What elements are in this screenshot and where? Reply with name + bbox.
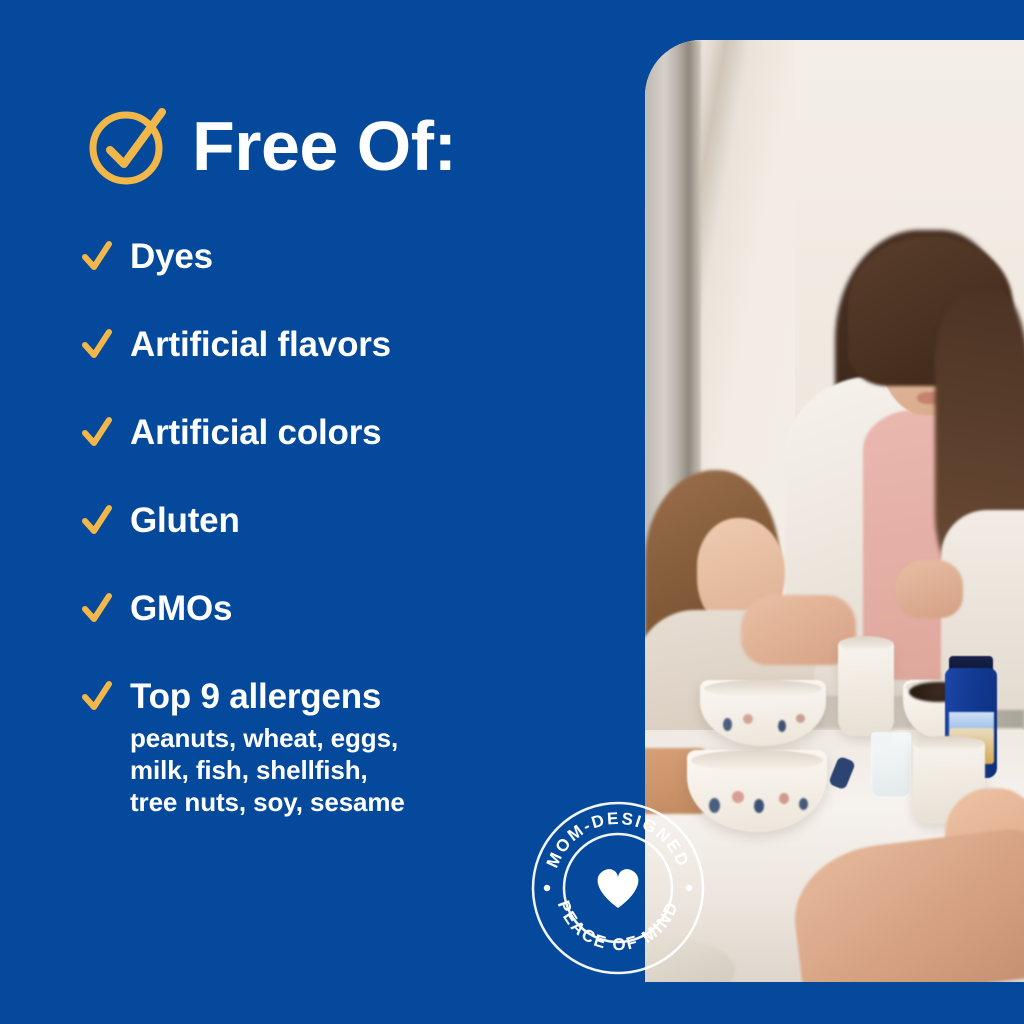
allergen-line-1: peanuts, wheat, eggs, <box>130 722 405 754</box>
check-icon <box>82 680 112 714</box>
cup-rim <box>914 736 983 752</box>
list-item: Artificial flavors <box>82 326 602 414</box>
bowl-rim <box>691 750 823 771</box>
product-benefits-graphic: Free Of: Dyes Artificial flavors <box>0 0 1024 1024</box>
page-title: Free Of: <box>86 104 456 188</box>
list-item-label: Artificial flavors <box>130 326 391 364</box>
mother-hand <box>895 560 963 618</box>
list-item-label: Gluten <box>130 502 240 540</box>
mom-designed-seal: MOM-DESIGNED PEACE OF MIND <box>530 800 706 976</box>
list-item: Dyes <box>82 238 602 326</box>
list-item: GMOs <box>82 590 602 678</box>
free-of-list: Dyes Artificial flavors Artificial color… <box>82 238 602 818</box>
list-item-label: Artificial colors <box>130 414 381 452</box>
water-glass <box>871 732 911 798</box>
check-icon <box>82 592 112 626</box>
bowl-speck <box>709 798 720 813</box>
bowl-speck <box>754 799 764 813</box>
list-item: Artificial colors <box>82 414 602 502</box>
list-item: Gluten <box>82 502 602 590</box>
allergens-block: Top 9 allergens peanuts, wheat, eggs, mi… <box>130 678 405 818</box>
heart-icon <box>598 869 639 908</box>
bowl-speck <box>778 720 786 732</box>
bowl-speck <box>796 714 805 723</box>
list-item-allergens: Top 9 allergens peanuts, wheat, eggs, mi… <box>82 678 602 818</box>
cup-rim <box>839 636 893 652</box>
ceramic-cup-back <box>838 640 894 736</box>
svg-text:MOM-DESIGNED: MOM-DESIGNED <box>543 809 694 871</box>
circle-check-icon <box>86 104 170 188</box>
bowl-speck <box>723 718 732 731</box>
benefits-content: Free Of: Dyes Artificial flavors <box>0 0 645 1024</box>
allergen-line-3: tree nuts, soy, sesame <box>130 786 405 818</box>
seal-dot-left <box>544 885 550 891</box>
check-icon <box>82 328 112 362</box>
allergen-line-2: milk, fish, shellfish, <box>130 754 405 786</box>
bowl-rim <box>704 680 822 697</box>
seal-dot-right <box>686 885 692 891</box>
bowl-speck <box>779 793 789 804</box>
bowl-speck <box>799 798 808 810</box>
list-item-label: GMOs <box>130 590 232 628</box>
check-icon <box>82 504 112 538</box>
check-icon <box>82 240 112 274</box>
page-title-text: Free Of: <box>192 111 456 181</box>
list-item-label: Dyes <box>130 238 213 276</box>
check-icon <box>82 416 112 450</box>
list-item-label: Top 9 allergens <box>130 678 405 716</box>
bowl-speck <box>743 714 753 724</box>
seal-top-text: MOM-DESIGNED <box>543 809 694 871</box>
bowl-speck <box>732 791 744 803</box>
